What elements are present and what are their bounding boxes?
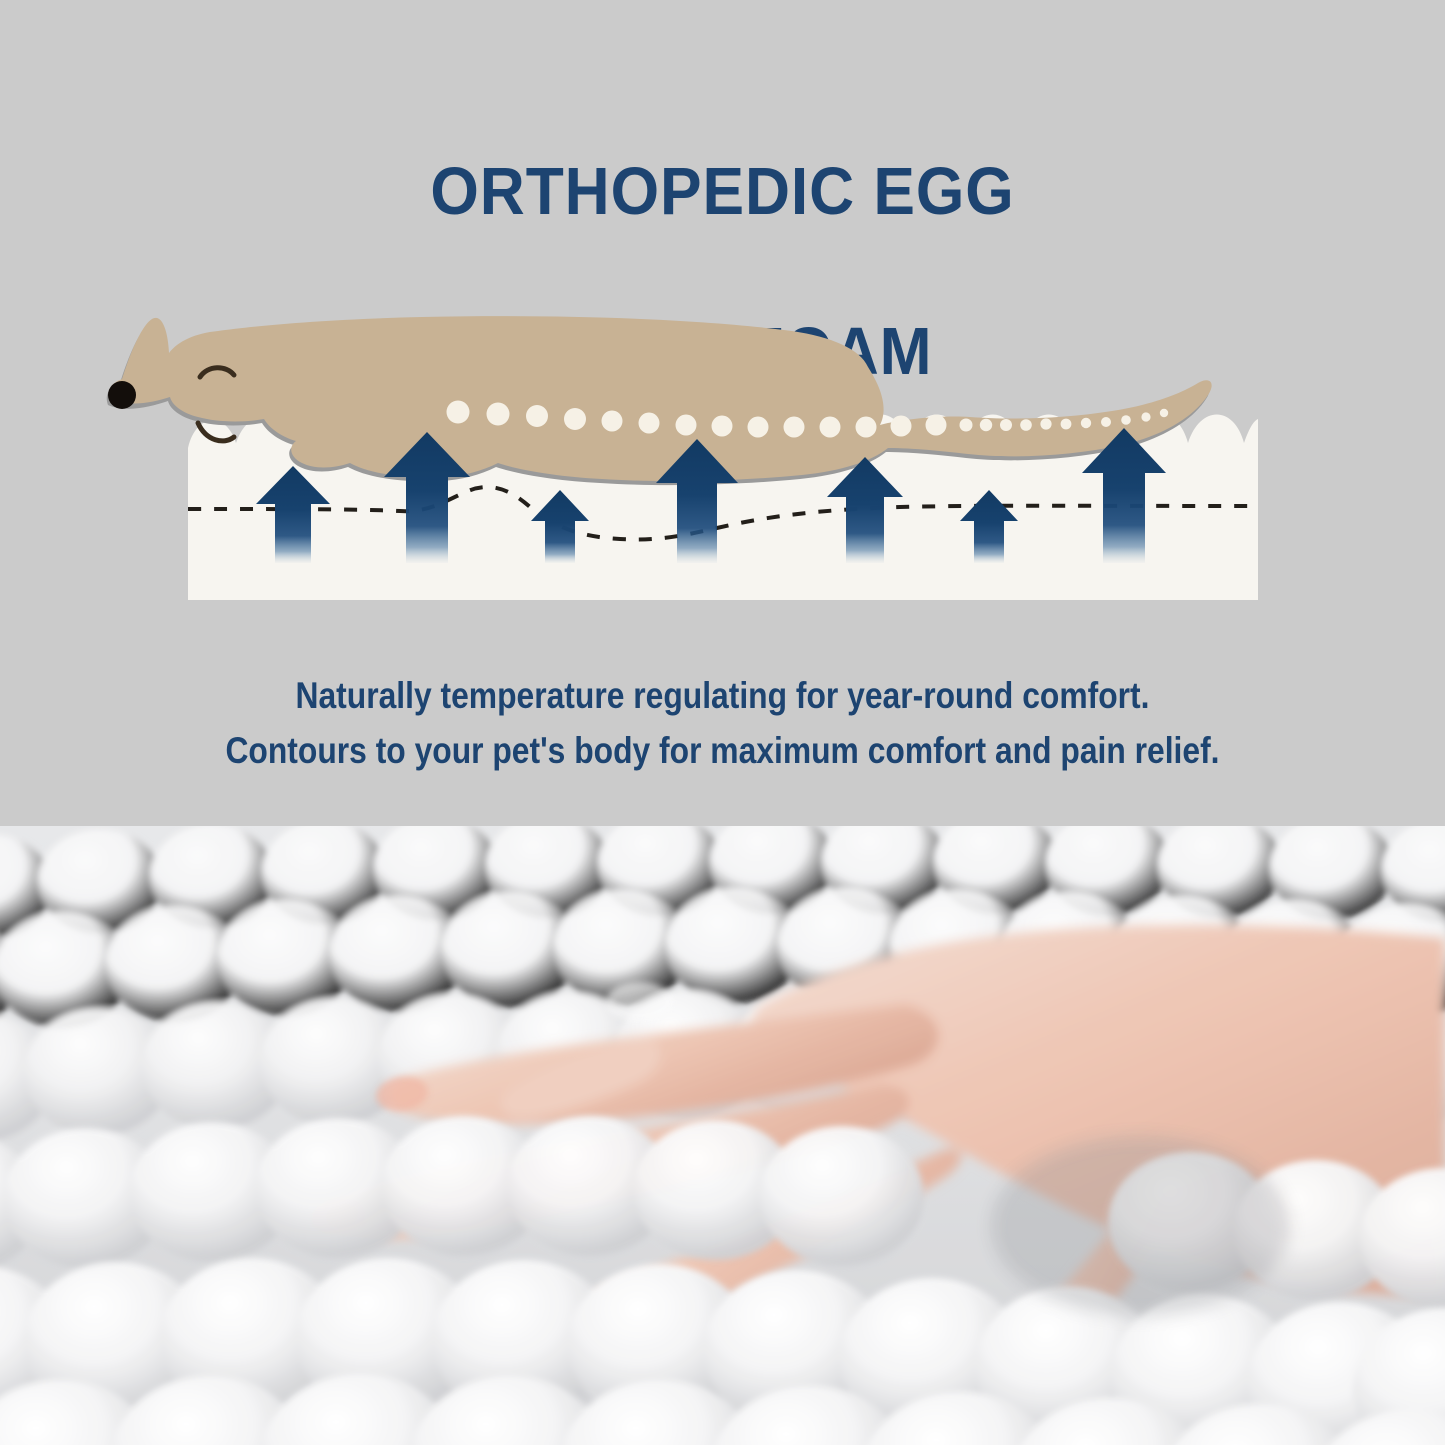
dog-nose [108, 381, 136, 409]
top-info-panel: ORTHOPEDIC EGG CRATE FOAM [0, 0, 1445, 826]
foam-photo [0, 826, 1445, 1445]
page-title-line-1: ORTHOPEDIC EGG [51, 152, 1395, 232]
feature-description-line-1: Naturally temperature regulating for yea… [101, 668, 1344, 723]
foam-support-illustration [0, 295, 1445, 655]
feature-description-line-2: Contours to your pet's body for maximum … [101, 723, 1344, 778]
product-feature-image: ORTHOPEDIC EGG CRATE FOAM [0, 0, 1445, 1445]
feature-description: Naturally temperature regulating for yea… [101, 668, 1344, 778]
